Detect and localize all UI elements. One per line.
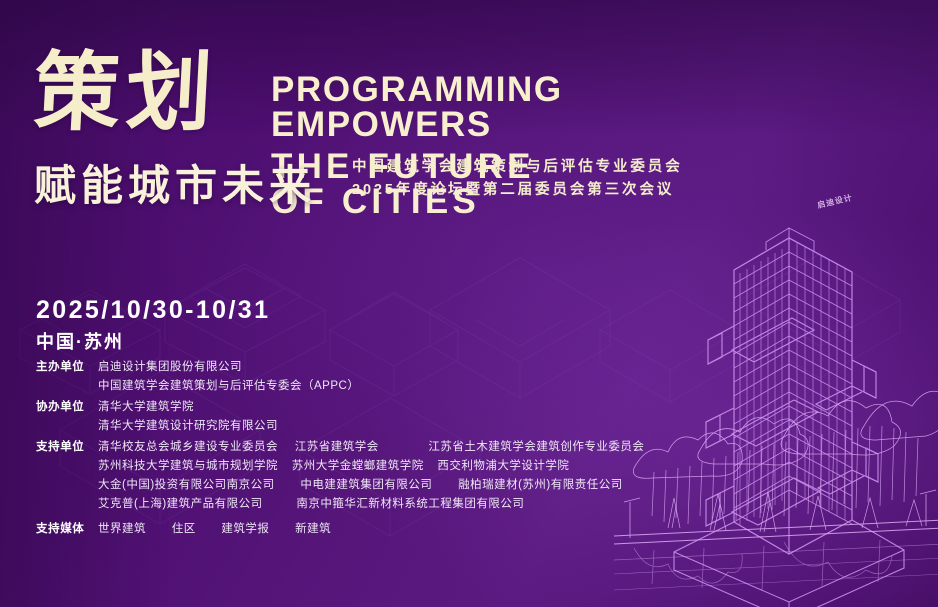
credits-block: 主办单位 启迪设计集团股份有限公司 中国建筑学会建筑策划与后评估专委会（APPC… (36, 358, 716, 541)
credit-item: 中电建建筑集团有限公司 (300, 476, 432, 495)
english-title-line1: PROGRAMMING EMPOWERS (271, 72, 563, 142)
credit-row-coorganizer: 协办单位 清华大学建筑学院 清华大学建筑设计研究院有限公司 (36, 398, 716, 436)
credit-values-supporters: 清华校友总会城乡建设专业委员会 江苏省建筑学会 江苏省土木建筑学会建筑创作专业委… (98, 438, 716, 514)
credit-item: 苏州科技大学建筑与城市规划学院 (98, 457, 278, 476)
credit-label-media: 支持媒体 (36, 520, 98, 539)
credit-item: 南京中箍华汇新材料系统工程集团有限公司 (296, 495, 524, 514)
credit-values-coorganizer: 清华大学建筑学院 清华大学建筑设计研究院有限公司 (98, 398, 716, 436)
chinese-subtitle: 中国建筑学会建筑策划与后评估专业委员会 2025年度论坛暨第二届委员会第三次会议 (352, 156, 683, 203)
credit-label-host: 主办单位 (36, 358, 98, 377)
credit-line: 大金(中国)投资有限公司南京公司 中电建建筑集团有限公司 融柏瑞建材(苏州)有限… (98, 476, 716, 495)
credit-item: 建筑学报 (221, 520, 269, 539)
chinese-subtitle-line2: 2025年度论坛暨第二届委员会第三次会议 (352, 179, 683, 202)
event-date: 2025/10/30-10/31 (36, 296, 270, 325)
credit-item: 清华大学建筑学院 (98, 398, 194, 417)
credit-item: 艾克普(上海)建筑产品有限公司 (98, 495, 263, 514)
credit-line: 清华校友总会城乡建设专业委员会 江苏省建筑学会 江苏省土木建筑学会建筑创作专业委… (98, 438, 716, 457)
credit-line: 艾克普(上海)建筑产品有限公司 南京中箍华汇新材料系统工程集团有限公司 (98, 495, 716, 514)
credit-label-coorganizer: 协办单位 (36, 398, 98, 417)
credit-item: 新建筑 (295, 520, 331, 539)
credit-line: 清华大学建筑学院 (98, 398, 716, 417)
credit-item: 西交利物浦大学设计学院 (437, 457, 569, 476)
chinese-headline: 赋能城市未来 (34, 152, 316, 213)
credit-line: 启迪设计集团股份有限公司 (98, 358, 716, 377)
credit-line: 中国建筑学会建筑策划与后评估专委会（APPC） (98, 377, 716, 396)
event-location: 中国·苏州 (36, 328, 124, 354)
credit-item: 江苏省土木建筑学会建筑创作专业委员会 (428, 438, 644, 457)
chinese-subtitle-line1: 中国建筑学会建筑策划与后评估专业委员会 (352, 156, 683, 179)
credit-item: 融柏瑞建材(苏州)有限责任公司 (458, 476, 623, 495)
calligraphy-title: 策划 (32, 52, 220, 135)
poster-header: 策划 PROGRAMMING EMPOWERS THE FUTURE OF CI… (34, 52, 218, 135)
building-sign-text: 启迪设计 (816, 192, 854, 211)
credit-item: 世界建筑 (98, 520, 146, 539)
credit-item: 江苏省建筑学会 (295, 438, 379, 457)
credit-values-media: 世界建筑 住区 建筑学报 新建筑 (98, 520, 716, 539)
credit-item: 清华大学建筑设计研究院有限公司 (98, 417, 278, 436)
credit-label-supporters: 支持单位 (36, 438, 98, 457)
credit-item: 启迪设计集团股份有限公司 (98, 358, 242, 377)
credit-values-host: 启迪设计集团股份有限公司 中国建筑学会建筑策划与后评估专委会（APPC） (98, 358, 716, 396)
credit-line: 清华大学建筑设计研究院有限公司 (98, 417, 716, 436)
credit-row-host: 主办单位 启迪设计集团股份有限公司 中国建筑学会建筑策划与后评估专委会（APPC… (36, 358, 716, 396)
credit-item: 苏州大学金螳螂建筑学院 (292, 457, 424, 476)
credit-item: 清华校友总会城乡建设专业委员会 (98, 438, 278, 457)
poster-canvas: 启迪设计 策划 PROGRAMMING EMPOWERS THE FUTURE … (0, 0, 938, 607)
credit-item: 大金(中国)投资有限公司南京公司 (98, 476, 275, 495)
credit-item: 中国建筑学会建筑策划与后评估专委会（APPC） (98, 377, 359, 396)
credit-row-supporters: 支持单位 清华校友总会城乡建设专业委员会 江苏省建筑学会 江苏省土木建筑学会建筑… (36, 438, 716, 514)
credit-line: 苏州科技大学建筑与城市规划学院 苏州大学金螳螂建筑学院 西交利物浦大学设计学院 (98, 457, 716, 476)
credit-item: 住区 (172, 520, 196, 539)
credit-row-media: 支持媒体 世界建筑 住区 建筑学报 新建筑 (36, 520, 716, 539)
credit-line: 世界建筑 住区 建筑学报 新建筑 (98, 520, 716, 539)
